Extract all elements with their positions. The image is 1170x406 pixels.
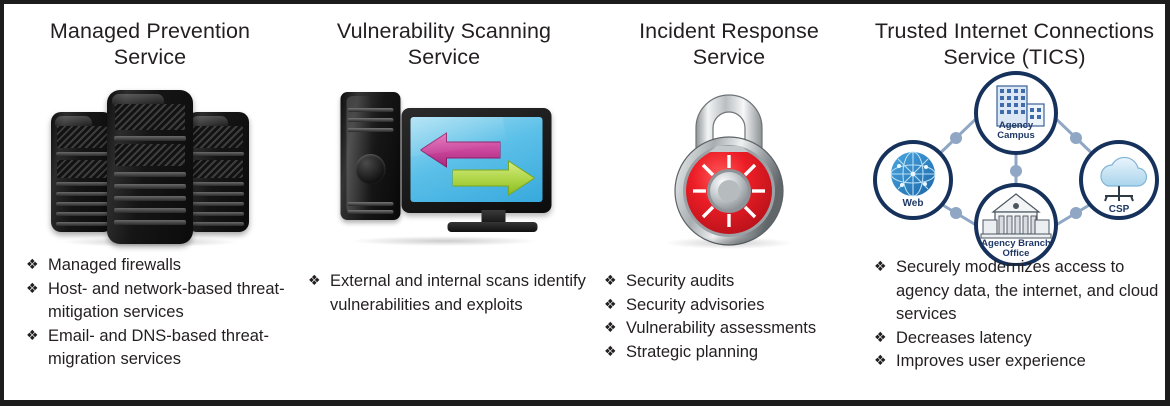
list-item: ❖Decreases latency <box>874 327 1165 351</box>
list-item: ❖Vulnerability assessments <box>604 317 866 341</box>
bullet-glyph-icon: ❖ <box>604 269 617 293</box>
tics-label-csp: CSP <box>1108 204 1129 215</box>
column-heading-incident-response: Incident Response Service <box>592 10 866 70</box>
desktop-computer-icon <box>296 70 592 260</box>
bullet-glyph-icon: ❖ <box>604 340 617 364</box>
monitor-icon <box>402 108 552 213</box>
server-stack-icon <box>4 70 296 260</box>
column-incident-response: Incident Response Service <box>592 4 866 400</box>
list-item: ❖Host- and network-based threat-mitigati… <box>26 278 296 325</box>
list-item-text: Security audits <box>626 272 734 290</box>
column-vulnerability-scanning: Vulnerability Scanning Service <box>296 4 592 400</box>
service-columns: Managed Prevention Service <box>4 4 1165 400</box>
bullet-glyph-icon: ❖ <box>874 349 887 373</box>
column-heading-tics: Trusted Internet Connections Service (TI… <box>866 10 1165 70</box>
bullet-glyph-icon: ❖ <box>26 324 39 348</box>
bullet-list-tics: ❖Securely modernizes access to agency da… <box>874 256 1165 374</box>
bullet-list-incident-response: ❖Security audits ❖Security advisories ❖V… <box>604 270 866 364</box>
power-knob-icon <box>356 154 386 184</box>
list-item-text: Security advisories <box>626 296 764 314</box>
infographic-frame: Managed Prevention Service <box>0 0 1170 406</box>
list-item: ❖Strategic planning <box>604 341 866 365</box>
bullet-glyph-icon: ❖ <box>604 293 617 317</box>
column-heading-vulnerability-scanning: Vulnerability Scanning Service <box>296 10 592 70</box>
list-item-text: Host- and network-based threat-mitigatio… <box>48 280 285 322</box>
tics-node-csp: CSP <box>1081 142 1157 218</box>
list-item: ❖Email- and DNS-based threat-migration s… <box>26 325 296 372</box>
bullet-list-vulnerability-scanning: ❖External and internal scans identify vu… <box>308 270 592 317</box>
monitor-screen <box>411 117 543 202</box>
bullet-glyph-icon: ❖ <box>604 316 617 340</box>
tics-network-diagram: Agency Campus <box>866 70 1165 260</box>
list-item: ❖Security advisories <box>604 294 866 318</box>
list-item: ❖Managed firewalls <box>26 254 296 278</box>
list-item-text: External and internal scans identify vul… <box>330 272 586 314</box>
tics-node-web: Web <box>875 142 951 218</box>
list-item: ❖Improves user experience <box>874 350 1165 374</box>
padlock-shadow <box>664 237 794 249</box>
list-item-text: Decreases latency <box>896 329 1032 347</box>
monitor-base <box>448 222 538 232</box>
bullet-glyph-icon: ❖ <box>308 269 321 293</box>
tics-label-web: Web <box>902 198 923 209</box>
list-item-text: Managed firewalls <box>48 256 181 274</box>
column-heading-managed-prevention: Managed Prevention Service <box>4 10 296 70</box>
tics-label-agency-campus-line2: Campus <box>997 130 1034 141</box>
list-item-text: Strategic planning <box>626 343 758 361</box>
list-item: ❖Securely modernizes access to agency da… <box>874 256 1165 327</box>
list-item-text: Improves user experience <box>896 352 1086 370</box>
server-left <box>51 112 113 232</box>
bullet-glyph-icon: ❖ <box>874 326 887 350</box>
list-item: ❖External and internal scans identify vu… <box>308 270 592 317</box>
bullet-list-managed-prevention: ❖Managed firewalls ❖Host- and network-ba… <box>26 254 296 372</box>
bullet-glyph-icon: ❖ <box>874 255 887 279</box>
tics-node-agency-branch-office: Agency Branch Office <box>976 185 1056 265</box>
list-item: ❖Security audits <box>604 270 866 294</box>
column-trusted-internet-connections: Trusted Internet Connections Service (TI… <box>866 4 1165 400</box>
computer-shadow <box>349 236 539 246</box>
bullet-glyph-icon: ❖ <box>26 277 39 301</box>
server-right <box>187 112 249 232</box>
arrow-right-green-icon <box>453 159 535 197</box>
pc-tower-icon <box>341 92 401 220</box>
list-item-text: Vulnerability assessments <box>626 319 816 337</box>
list-item-text: Securely modernizes access to agency dat… <box>896 258 1158 323</box>
column-managed-prevention: Managed Prevention Service <box>4 4 296 400</box>
bullet-glyph-icon: ❖ <box>26 253 39 277</box>
list-item-text: Email- and DNS-based threat-migration se… <box>48 327 269 369</box>
tics-node-agency-campus: Agency Campus <box>976 73 1056 153</box>
server-center <box>107 90 193 244</box>
padlock-icon <box>592 70 866 260</box>
